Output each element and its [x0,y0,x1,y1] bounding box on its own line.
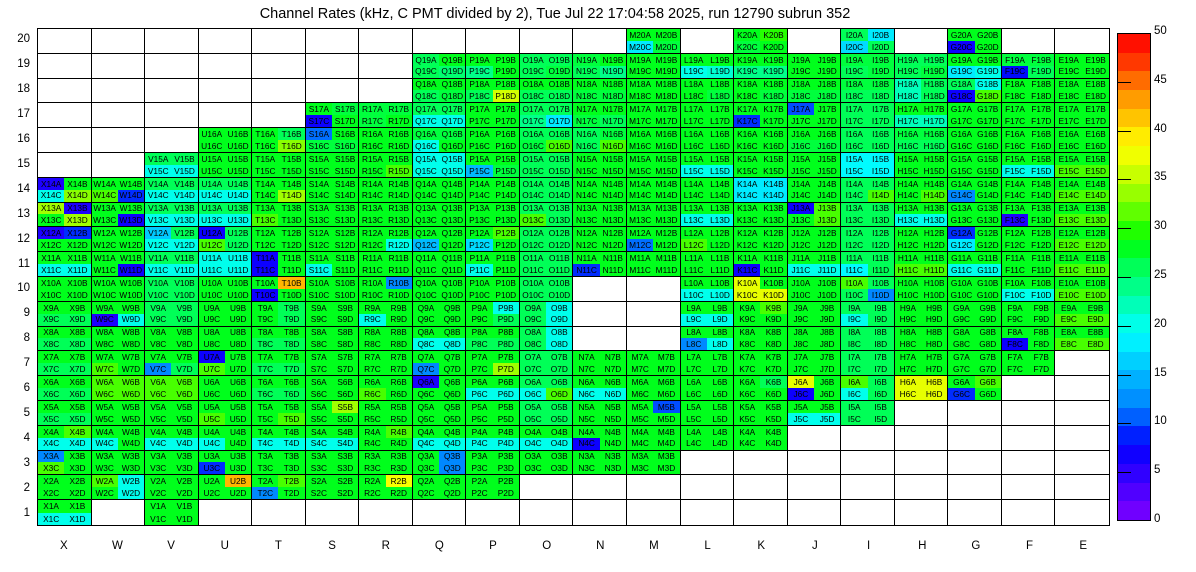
channel-N3D[interactable]: N3D [600,462,626,474]
channel-T8A[interactable]: T8A [252,327,278,339]
channel-I20D[interactable]: I20D [868,41,894,53]
channel-Q13A[interactable]: Q13A [413,203,439,215]
channel-H14C[interactable]: H14C [895,190,921,202]
channel-S15D[interactable]: S15D [332,165,358,177]
channel-O11D[interactable]: O11D [546,264,572,276]
channel-U6D[interactable]: U6D [225,388,251,400]
channel-O19B[interactable]: O19B [546,54,572,66]
channel-I12C[interactable]: I12C [841,239,867,251]
channel-I17A[interactable]: I17A [841,103,867,115]
channel-L5C[interactable]: L5C [681,413,707,425]
channel-L10D[interactable]: L10D [707,289,733,301]
channel-P11D[interactable]: P11D [493,264,519,276]
channel-V13D[interactable]: V13D [171,214,197,226]
channel-K20C[interactable]: K20C [734,41,760,53]
channel-P12C[interactable]: P12C [466,239,492,251]
channel-V1B[interactable]: V1B [171,500,197,512]
channel-S17D[interactable]: S17D [332,115,358,127]
channel-L13C[interactable]: L13C [681,214,707,226]
channel-P13C[interactable]: P13C [466,214,492,226]
channel-H8A[interactable]: H8A [895,327,921,339]
channel-O19D[interactable]: O19D [546,66,572,78]
channel-Q19B[interactable]: Q19B [439,54,465,66]
channel-J5B[interactable]: J5B [814,401,840,413]
channel-W12A[interactable]: W12A [92,227,118,239]
channel-I13A[interactable]: I13A [841,203,867,215]
channel-Q16C[interactable]: Q16C [413,140,439,152]
channel-O15C[interactable]: O15C [520,165,546,177]
channel-E16D[interactable]: E16D [1082,140,1109,152]
channel-Q6B[interactable]: Q6B [439,376,465,388]
channel-R10B[interactable]: R10B [386,277,412,289]
channel-R12B[interactable]: R12B [386,227,412,239]
channel-W10D[interactable]: W10D [118,289,144,301]
channel-J19B[interactable]: J19B [814,54,840,66]
channel-E14B[interactable]: E14B [1082,178,1109,190]
channel-J17D[interactable]: J17D [814,115,840,127]
channel-J13B[interactable]: J13B [814,203,840,215]
channel-O18C[interactable]: O18C [520,90,546,102]
channel-F7B[interactable]: F7B [1028,351,1054,363]
channel-H6A[interactable]: H6A [895,376,921,388]
channel-H15D[interactable]: H15D [921,165,947,177]
channel-J13A[interactable]: J13A [788,203,814,215]
channel-V8D[interactable]: V8D [171,338,197,350]
channel-J12D[interactable]: J12D [814,239,840,251]
channel-G20B[interactable]: G20B [975,29,1001,41]
channel-E12B[interactable]: E12B [1082,227,1109,239]
channel-M4A[interactable]: M4A [627,426,653,438]
channel-T14C[interactable]: T14C [252,190,278,202]
channel-O5A[interactable]: O5A [520,401,546,413]
channel-S14B[interactable]: S14B [332,178,358,190]
channel-R13C[interactable]: R13C [359,214,385,226]
channel-S2A[interactable]: S2A [306,475,332,487]
channel-J5D[interactable]: J5D [814,413,840,425]
channel-V7B[interactable]: V7B [171,351,197,363]
channel-T12B[interactable]: T12B [278,227,304,239]
channel-P12B[interactable]: P12B [493,227,519,239]
channel-E14D[interactable]: E14D [1082,190,1109,202]
channel-M16A[interactable]: M16A [627,128,653,140]
channel-I16B[interactable]: I16B [868,128,894,140]
channel-V6C[interactable]: V6C [145,388,171,400]
channel-H6B[interactable]: H6B [921,376,947,388]
channel-M6A[interactable]: M6A [627,376,653,388]
channel-M3D[interactable]: M3D [653,462,679,474]
channel-U11A[interactable]: U11A [199,252,225,264]
channel-G18C[interactable]: G18C [948,90,974,102]
channel-N4C[interactable]: N4C [573,438,599,450]
channel-L14A[interactable]: L14A [681,178,707,190]
channel-Q11D[interactable]: Q11D [439,264,465,276]
channel-R3D[interactable]: R3D [386,462,412,474]
channel-U4B[interactable]: U4B [225,426,251,438]
channel-K20A[interactable]: K20A [734,29,760,41]
channel-Q18D[interactable]: Q18D [439,90,465,102]
channel-M18A[interactable]: M18A [627,79,653,91]
channel-M18D[interactable]: M18D [653,90,679,102]
channel-Q7D[interactable]: Q7D [439,363,465,375]
channel-G13A[interactable]: G13A [948,203,974,215]
channel-L17B[interactable]: L17B [707,103,733,115]
channel-W6D[interactable]: W6D [118,388,144,400]
channel-M7A[interactable]: M7A [627,351,653,363]
channel-J15C[interactable]: J15C [788,165,814,177]
channel-G18D[interactable]: G18D [975,90,1001,102]
channel-Q4C[interactable]: Q4C [413,438,439,450]
channel-I9A[interactable]: I9A [841,302,867,314]
channel-T16C[interactable]: T16C [252,140,278,152]
channel-J15B[interactable]: J15B [814,153,840,165]
channel-L7C[interactable]: L7C [681,363,707,375]
channel-U10B[interactable]: U10B [225,277,251,289]
channel-Q2D[interactable]: Q2D [439,487,465,499]
channel-S13C[interactable]: S13C [306,214,332,226]
channel-J10B[interactable]: J10B [814,277,840,289]
channel-L4C[interactable]: L4C [681,438,707,450]
channel-M20A[interactable]: M20A [627,29,653,41]
channel-L8B[interactable]: L8B [707,327,733,339]
channel-M6D[interactable]: M6D [653,388,679,400]
channel-O6C[interactable]: O6C [520,388,546,400]
channel-L16B[interactable]: L16B [707,128,733,140]
channel-R7B[interactable]: R7B [386,351,412,363]
channel-R8A[interactable]: R8A [359,327,385,339]
channel-F11A[interactable]: F11A [1002,252,1028,264]
channel-J14A[interactable]: J14A [788,178,814,190]
channel-M16B[interactable]: M16B [653,128,679,140]
channel-U2A[interactable]: U2A [199,475,225,487]
channel-W4D[interactable]: W4D [118,438,144,450]
channel-J9C[interactable]: J9C [788,314,814,326]
channel-U14D[interactable]: U14D [225,190,251,202]
channel-T10D[interactable]: T10D [278,289,304,301]
channel-T10C[interactable]: T10C [252,289,278,301]
channel-O10B[interactable]: O10B [546,277,572,289]
channel-G12B[interactable]: G12B [975,227,1001,239]
channel-S2D[interactable]: S2D [332,487,358,499]
channel-M13B[interactable]: M13B [653,203,679,215]
channel-K16B[interactable]: K16B [760,128,786,140]
channel-X11B[interactable]: X11B [64,252,90,264]
channel-U15A[interactable]: U15A [199,153,225,165]
channel-L9D[interactable]: L9D [707,314,733,326]
channel-J16D[interactable]: J16D [814,140,840,152]
channel-L9A[interactable]: L9A [681,302,707,314]
channel-U15D[interactable]: U15D [225,165,251,177]
channel-V10A[interactable]: V10A [145,277,171,289]
channel-O5B[interactable]: O5B [546,401,572,413]
channel-K16D[interactable]: K16D [760,140,786,152]
channel-R14A[interactable]: R14A [359,178,385,190]
channel-Q14B[interactable]: Q14B [439,178,465,190]
channel-K9A[interactable]: K9A [734,302,760,314]
channel-K18B[interactable]: K18B [760,79,786,91]
channel-N19A[interactable]: N19A [573,54,599,66]
channel-K6B[interactable]: K6B [760,376,786,388]
channel-S7C[interactable]: S7C [306,363,332,375]
channel-W9D[interactable]: W9D [118,314,144,326]
channel-K6D[interactable]: K6D [760,388,786,400]
channel-H12D[interactable]: H12D [921,239,947,251]
channel-H8B[interactable]: H8B [921,327,947,339]
channel-R2A[interactable]: R2A [359,475,385,487]
channel-F15A[interactable]: F15A [1002,153,1028,165]
channel-W6A[interactable]: W6A [92,376,118,388]
channel-W12D[interactable]: W12D [118,239,144,251]
channel-N5B[interactable]: N5B [600,401,626,413]
channel-I14D[interactable]: I14D [868,190,894,202]
channel-R12A[interactable]: R12A [359,227,385,239]
channel-L15C[interactable]: L15C [681,165,707,177]
channel-M4D[interactable]: M4D [653,438,679,450]
channel-M16C[interactable]: M16C [627,140,653,152]
channel-X3C[interactable]: X3C [38,462,64,474]
channel-K15A[interactable]: K15A [734,153,760,165]
channel-X13B[interactable]: X13B [64,203,90,215]
channel-P18B[interactable]: P18B [493,79,519,91]
channel-O17C[interactable]: O17C [520,115,546,127]
channel-X2D[interactable]: X2D [64,487,90,499]
channel-V9C[interactable]: V9C [145,314,171,326]
channel-T13C[interactable]: T13C [252,214,278,226]
channel-G18B[interactable]: G18B [975,79,1001,91]
channel-H12A[interactable]: H12A [895,227,921,239]
channel-G14B[interactable]: G14B [975,178,1001,190]
channel-P5A[interactable]: P5A [466,401,492,413]
channel-J10D[interactable]: J10D [814,289,840,301]
channel-I13D[interactable]: I13D [868,214,894,226]
channel-U11B[interactable]: U11B [225,252,251,264]
channel-I11C[interactable]: I11C [841,264,867,276]
channel-O4C[interactable]: O4C [520,438,546,450]
channel-X11A[interactable]: X11A [38,252,64,264]
channel-N4D[interactable]: N4D [600,438,626,450]
channel-E13D[interactable]: E13D [1082,214,1109,226]
channel-N12B[interactable]: N12B [600,227,626,239]
channel-Q12C[interactable]: Q12C [413,239,439,251]
channel-Q7C[interactable]: Q7C [413,363,439,375]
channel-X4C[interactable]: X4C [38,438,64,450]
channel-Q5B[interactable]: Q5B [439,401,465,413]
channel-T6B[interactable]: T6B [278,376,304,388]
channel-I7D[interactable]: I7D [868,363,894,375]
channel-U7B[interactable]: U7B [225,351,251,363]
channel-S8C[interactable]: S8C [306,338,332,350]
channel-M3A[interactable]: M3A [627,451,653,463]
channel-I16A[interactable]: I16A [841,128,867,140]
channel-L9C[interactable]: L9C [681,314,707,326]
channel-L7D[interactable]: L7D [707,363,733,375]
channel-V11D[interactable]: V11D [171,264,197,276]
channel-S3A[interactable]: S3A [306,451,332,463]
channel-K6A[interactable]: K6A [734,376,760,388]
channel-K15C[interactable]: K15C [734,165,760,177]
channel-T5D[interactable]: T5D [278,413,304,425]
channel-G8D[interactable]: G8D [975,338,1001,350]
channel-K19D[interactable]: K19D [760,66,786,78]
channel-W8B[interactable]: W8B [118,327,144,339]
channel-M19D[interactable]: M19D [653,66,679,78]
channel-H10B[interactable]: H10B [921,277,947,289]
channel-G8B[interactable]: G8B [975,327,1001,339]
channel-S10B[interactable]: S10B [332,277,358,289]
channel-E13C[interactable]: E13C [1055,214,1082,226]
channel-V1C[interactable]: V1C [145,513,171,525]
channel-K10A[interactable]: K10A [734,277,760,289]
channel-T13D[interactable]: T13D [278,214,304,226]
channel-T16B[interactable]: T16B [278,128,304,140]
channel-S6C[interactable]: S6C [306,388,332,400]
channel-G20C[interactable]: G20C [948,41,974,53]
channel-J19D[interactable]: J19D [814,66,840,78]
channel-M20D[interactable]: M20D [653,41,679,53]
channel-J17B[interactable]: J17B [814,103,840,115]
channel-I20A[interactable]: I20A [841,29,867,41]
channel-K17B[interactable]: K17B [760,103,786,115]
channel-X1A[interactable]: X1A [38,500,64,512]
channel-R16C[interactable]: R16C [359,140,385,152]
channel-K17A[interactable]: K17A [734,103,760,115]
channel-L15D[interactable]: L15D [707,165,733,177]
channel-H10D[interactable]: H10D [921,289,947,301]
channel-N15C[interactable]: N15C [573,165,599,177]
channel-X6C[interactable]: X6C [38,388,64,400]
channel-G7A[interactable]: G7A [948,351,974,363]
channel-T9B[interactable]: T9B [278,302,304,314]
channel-N14D[interactable]: N14D [600,190,626,202]
channel-U8D[interactable]: U8D [225,338,251,350]
channel-S3B[interactable]: S3B [332,451,358,463]
channel-N14B[interactable]: N14B [600,178,626,190]
channel-M20B[interactable]: M20B [653,29,679,41]
channel-L10C[interactable]: L10C [681,289,707,301]
channel-T7B[interactable]: T7B [278,351,304,363]
channel-E9C[interactable]: E9C [1055,314,1082,326]
channel-P16B[interactable]: P16B [493,128,519,140]
channel-J19C[interactable]: J19C [788,66,814,78]
channel-O7A[interactable]: O7A [520,351,546,363]
channel-U7A[interactable]: U7A [199,351,225,363]
channel-T14A[interactable]: T14A [252,178,278,190]
channel-U16A[interactable]: U16A [199,128,225,140]
channel-G20D[interactable]: G20D [975,41,1001,53]
channel-U8C[interactable]: U8C [199,338,225,350]
channel-T6C[interactable]: T6C [252,388,278,400]
channel-U6A[interactable]: U6A [199,376,225,388]
channel-U8A[interactable]: U8A [199,327,225,339]
channel-Q11C[interactable]: Q11C [413,264,439,276]
channel-V15C[interactable]: V15C [145,165,171,177]
channel-S8A[interactable]: S8A [306,327,332,339]
channel-G18A[interactable]: G18A [948,79,974,91]
channel-V6D[interactable]: V6D [171,388,197,400]
channel-W10B[interactable]: W10B [118,277,144,289]
channel-S8D[interactable]: S8D [332,338,358,350]
channel-Q15C[interactable]: Q15C [413,165,439,177]
channel-N5A[interactable]: N5A [573,401,599,413]
channel-M18B[interactable]: M18B [653,79,679,91]
channel-P17D[interactable]: P17D [493,115,519,127]
channel-H6D[interactable]: H6D [921,388,947,400]
channel-T11B[interactable]: T11B [278,252,304,264]
channel-N3A[interactable]: N3A [573,451,599,463]
channel-N17A[interactable]: N17A [573,103,599,115]
channel-K12B[interactable]: K12B [760,227,786,239]
channel-R5A[interactable]: R5A [359,401,385,413]
channel-J10C[interactable]: J10C [788,289,814,301]
channel-H18B[interactable]: H18B [921,79,947,91]
channel-G9A[interactable]: G9A [948,302,974,314]
channel-J7A[interactable]: J7A [788,351,814,363]
channel-G7C[interactable]: G7C [948,363,974,375]
channel-J13C[interactable]: J13C [788,214,814,226]
channel-T9C[interactable]: T9C [252,314,278,326]
channel-U12D[interactable]: U12D [225,239,251,251]
channel-O11A[interactable]: O11A [520,252,546,264]
channel-O12C[interactable]: O12C [520,239,546,251]
channel-H7A[interactable]: H7A [895,351,921,363]
channel-G20A[interactable]: G20A [948,29,974,41]
channel-E13A[interactable]: E13A [1055,203,1082,215]
channel-N4B[interactable]: N4B [600,426,626,438]
channel-S7D[interactable]: S7D [332,363,358,375]
channel-X10D[interactable]: X10D [64,289,90,301]
channel-P2C[interactable]: P2C [466,487,492,499]
channel-N7C[interactable]: N7C [573,363,599,375]
channel-N3C[interactable]: N3C [573,462,599,474]
channel-K5D[interactable]: K5D [760,413,786,425]
channel-Q3A[interactable]: Q3A [413,451,439,463]
channel-R14D[interactable]: R14D [386,190,412,202]
channel-P10A[interactable]: P10A [466,277,492,289]
channel-L11B[interactable]: L11B [707,252,733,264]
channel-H6C[interactable]: H6C [895,388,921,400]
channel-H17A[interactable]: H17A [895,103,921,115]
channel-O14A[interactable]: O14A [520,178,546,190]
channel-J9B[interactable]: J9B [814,302,840,314]
channel-V9A[interactable]: V9A [145,302,171,314]
channel-K10D[interactable]: K10D [760,289,786,301]
channel-U2C[interactable]: U2C [199,487,225,499]
channel-E12A[interactable]: E12A [1055,227,1082,239]
channel-R16D[interactable]: R16D [386,140,412,152]
channel-F18C[interactable]: F18C [1002,90,1028,102]
channel-F14A[interactable]: F14A [1002,178,1028,190]
channel-U6B[interactable]: U6B [225,376,251,388]
channel-P19B[interactable]: P19B [493,54,519,66]
channel-L9B[interactable]: L9B [707,302,733,314]
channel-I16D[interactable]: I16D [868,140,894,152]
channel-Q9A[interactable]: Q9A [413,302,439,314]
channel-E19C[interactable]: E19C [1055,66,1082,78]
channel-P4D[interactable]: P4D [493,438,519,450]
channel-I8B[interactable]: I8B [868,327,894,339]
channel-H14D[interactable]: H14D [921,190,947,202]
channel-J17C[interactable]: J17C [788,115,814,127]
channel-R15A[interactable]: R15A [359,153,385,165]
channel-K10C[interactable]: K10C [734,289,760,301]
channel-M4C[interactable]: M4C [627,438,653,450]
channel-W12C[interactable]: W12C [92,239,118,251]
channel-F18D[interactable]: F18D [1028,90,1054,102]
channel-G16C[interactable]: G16C [948,140,974,152]
channel-G10C[interactable]: G10C [948,289,974,301]
channel-V6A[interactable]: V6A [145,376,171,388]
channel-X7C[interactable]: X7C [38,363,64,375]
channel-T5A[interactable]: T5A [252,401,278,413]
